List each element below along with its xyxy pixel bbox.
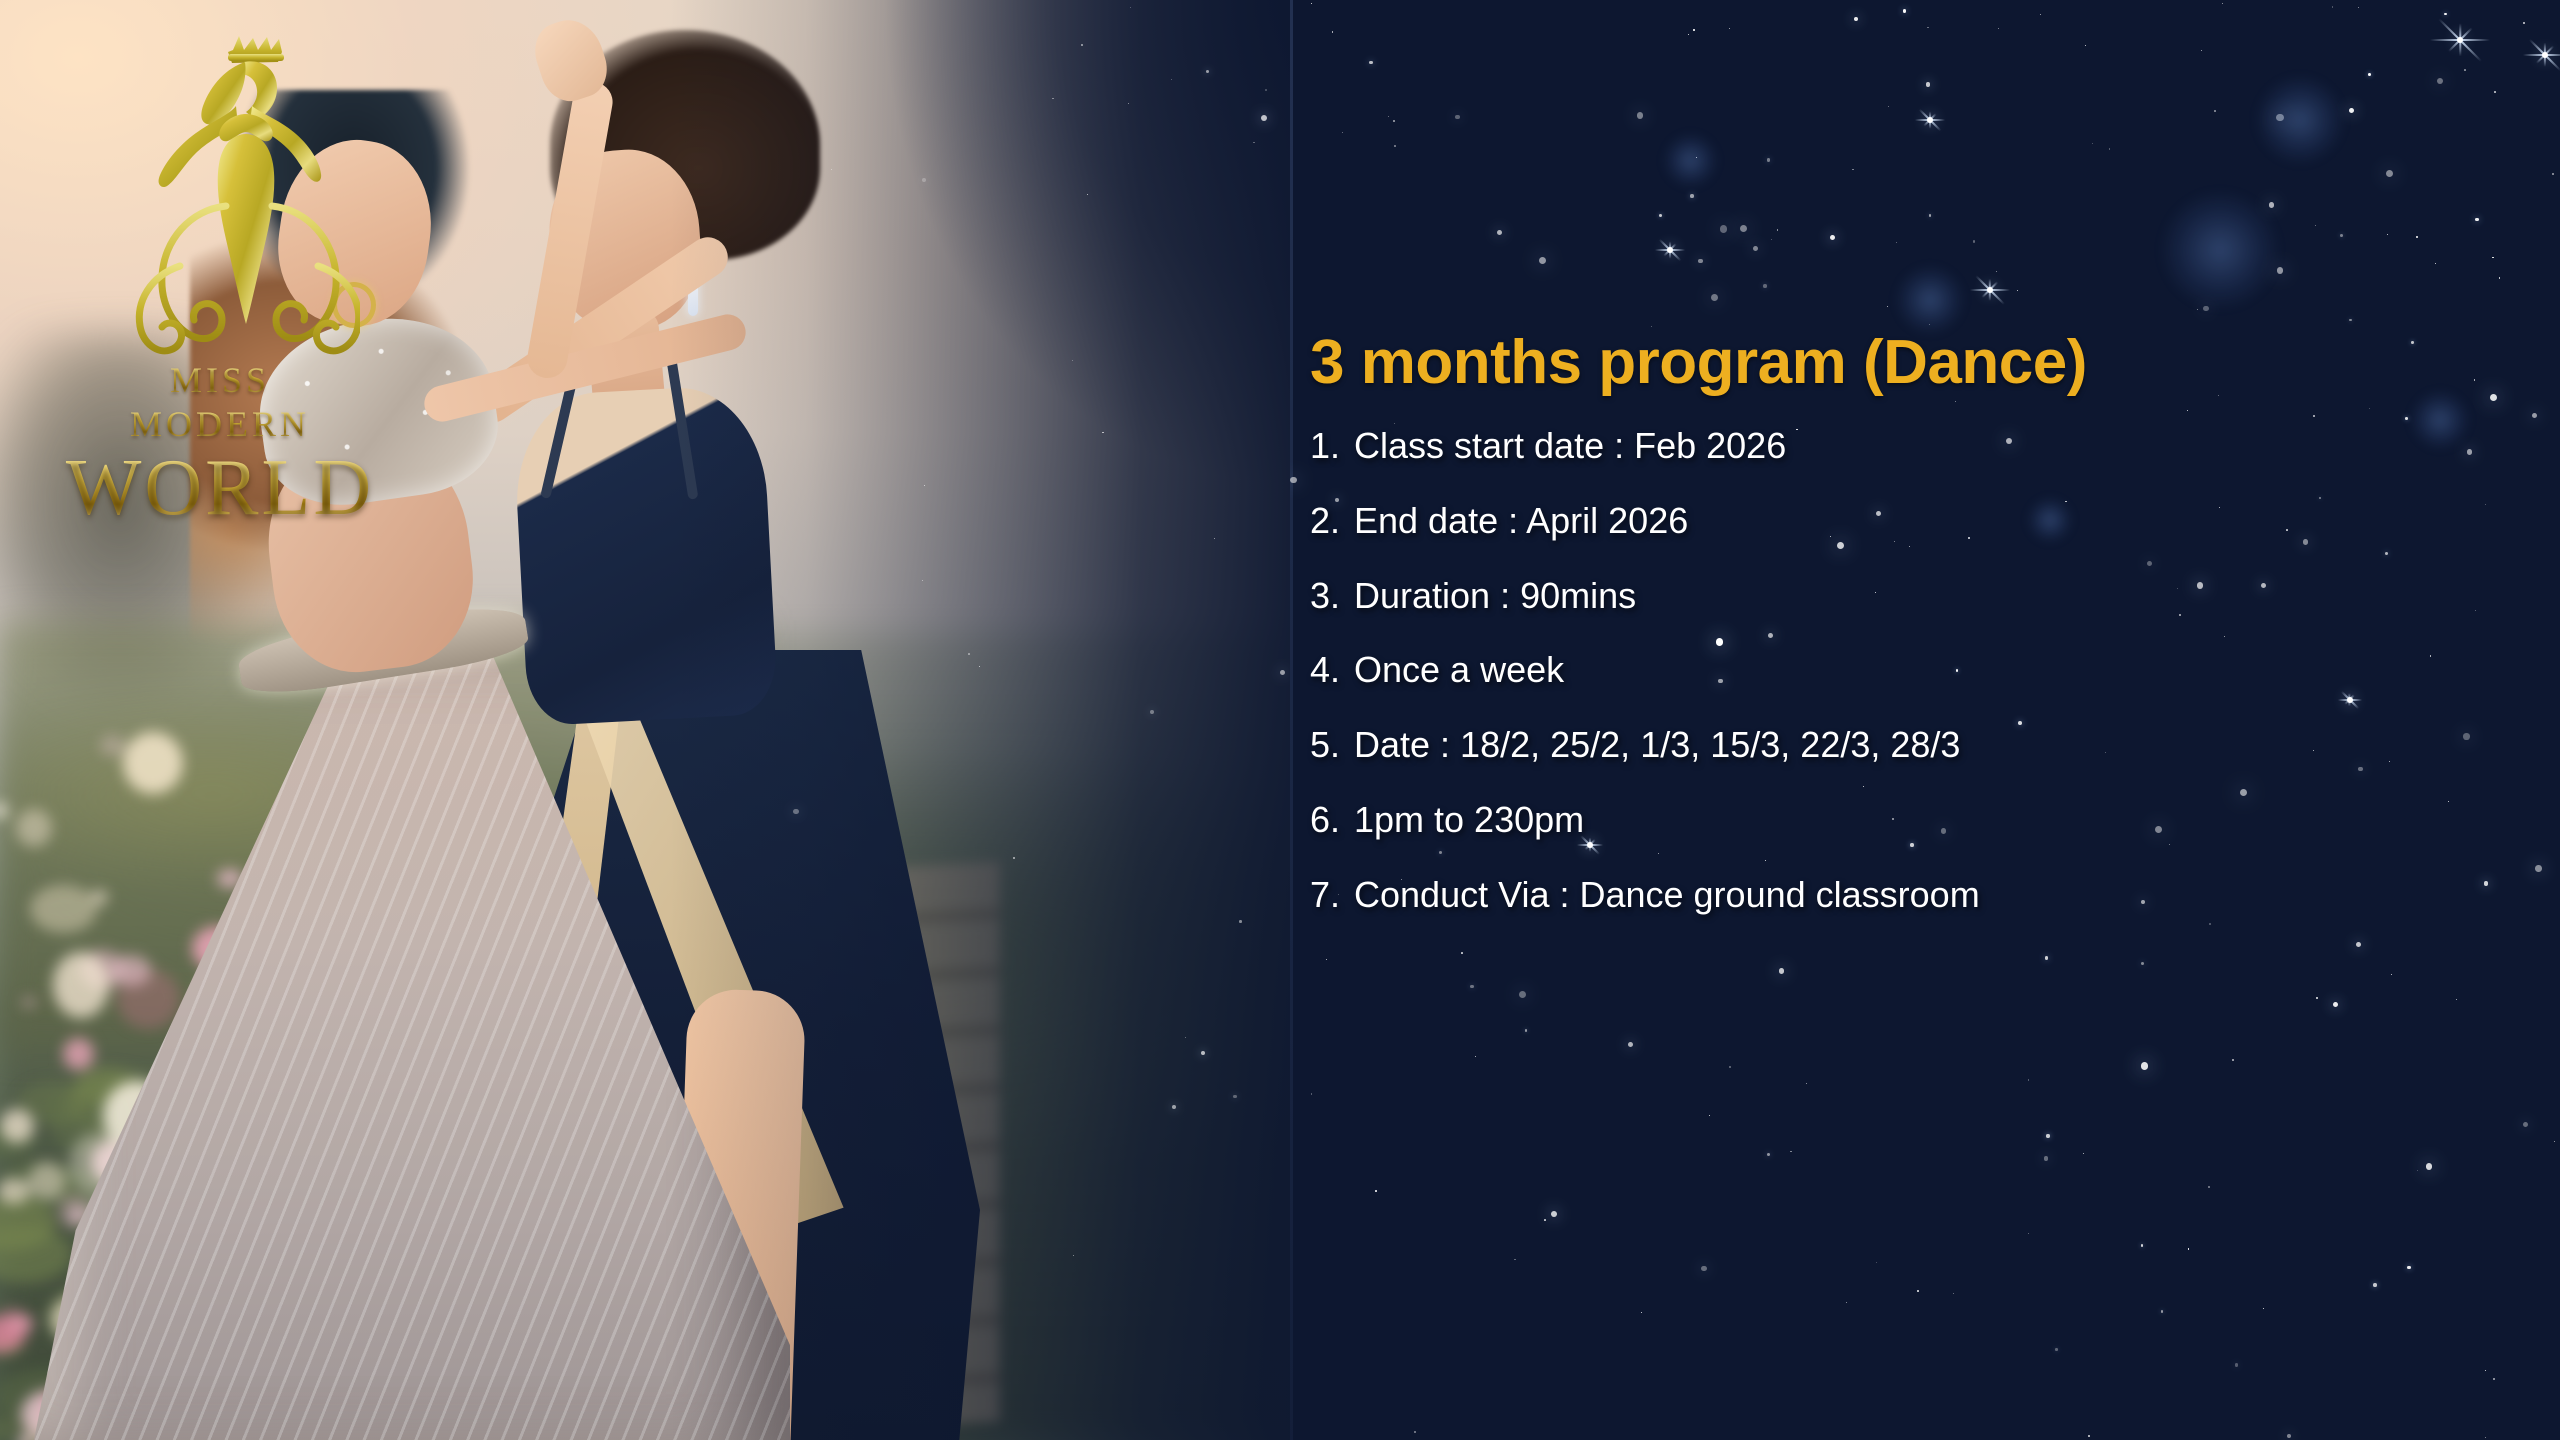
program-detail-list: 1.Class start date : Feb 20262.End date … <box>1310 423 2520 919</box>
program-list-item: 3.Duration : 90mins <box>1310 573 2520 620</box>
list-item-text: End date : April 2026 <box>1354 500 1688 541</box>
nebula-glow <box>2255 75 2345 165</box>
dancer-a-hoop-earring <box>332 282 376 328</box>
program-list-item: 1.Class start date : Feb 2026 <box>1310 423 2520 470</box>
program-list-item: 4.Once a week <box>1310 647 2520 694</box>
nebula-glow <box>1895 265 1965 335</box>
list-item-number: 6. <box>1310 797 1354 844</box>
slide-root: 3 months program (Dance) 1.Class start d… <box>0 0 2560 1440</box>
list-item-number: 4. <box>1310 647 1354 694</box>
list-item-number: 1. <box>1310 423 1354 470</box>
program-list-item: 7.Conduct Via : Dance ground classroom <box>1310 872 2520 919</box>
program-content: 3 months program (Dance) 1.Class start d… <box>1310 330 2520 947</box>
list-item-number: 2. <box>1310 498 1354 545</box>
list-item-text: Duration : 90mins <box>1354 575 1636 616</box>
program-list-item: 5.Date : 18/2, 25/2, 1/3, 15/3, 22/3, 28… <box>1310 722 2520 769</box>
list-item-number: 5. <box>1310 722 1354 769</box>
nebula-glow <box>2160 190 2280 310</box>
dancer-a-skirt <box>30 640 790 1440</box>
page-title: 3 months program (Dance) <box>1310 330 2520 397</box>
nebula-glow <box>1663 133 1718 188</box>
program-list-item: 2.End date : April 2026 <box>1310 498 2520 545</box>
dancer-silver-lehenga <box>120 20 900 1440</box>
list-item-text: Date : 18/2, 25/2, 1/3, 15/3, 22/3, 28/3 <box>1354 724 1960 765</box>
list-item-number: 3. <box>1310 573 1354 620</box>
list-item-text: 1pm to 230pm <box>1354 799 1584 840</box>
program-list-item: 6.1pm to 230pm <box>1310 797 2520 844</box>
list-item-text: Once a week <box>1354 649 1564 690</box>
list-item-number: 7. <box>1310 872 1354 919</box>
hero-photo <box>0 0 1290 1440</box>
list-item-text: Conduct Via : Dance ground classroom <box>1354 874 1980 915</box>
list-item-text: Class start date : Feb 2026 <box>1354 425 1786 466</box>
